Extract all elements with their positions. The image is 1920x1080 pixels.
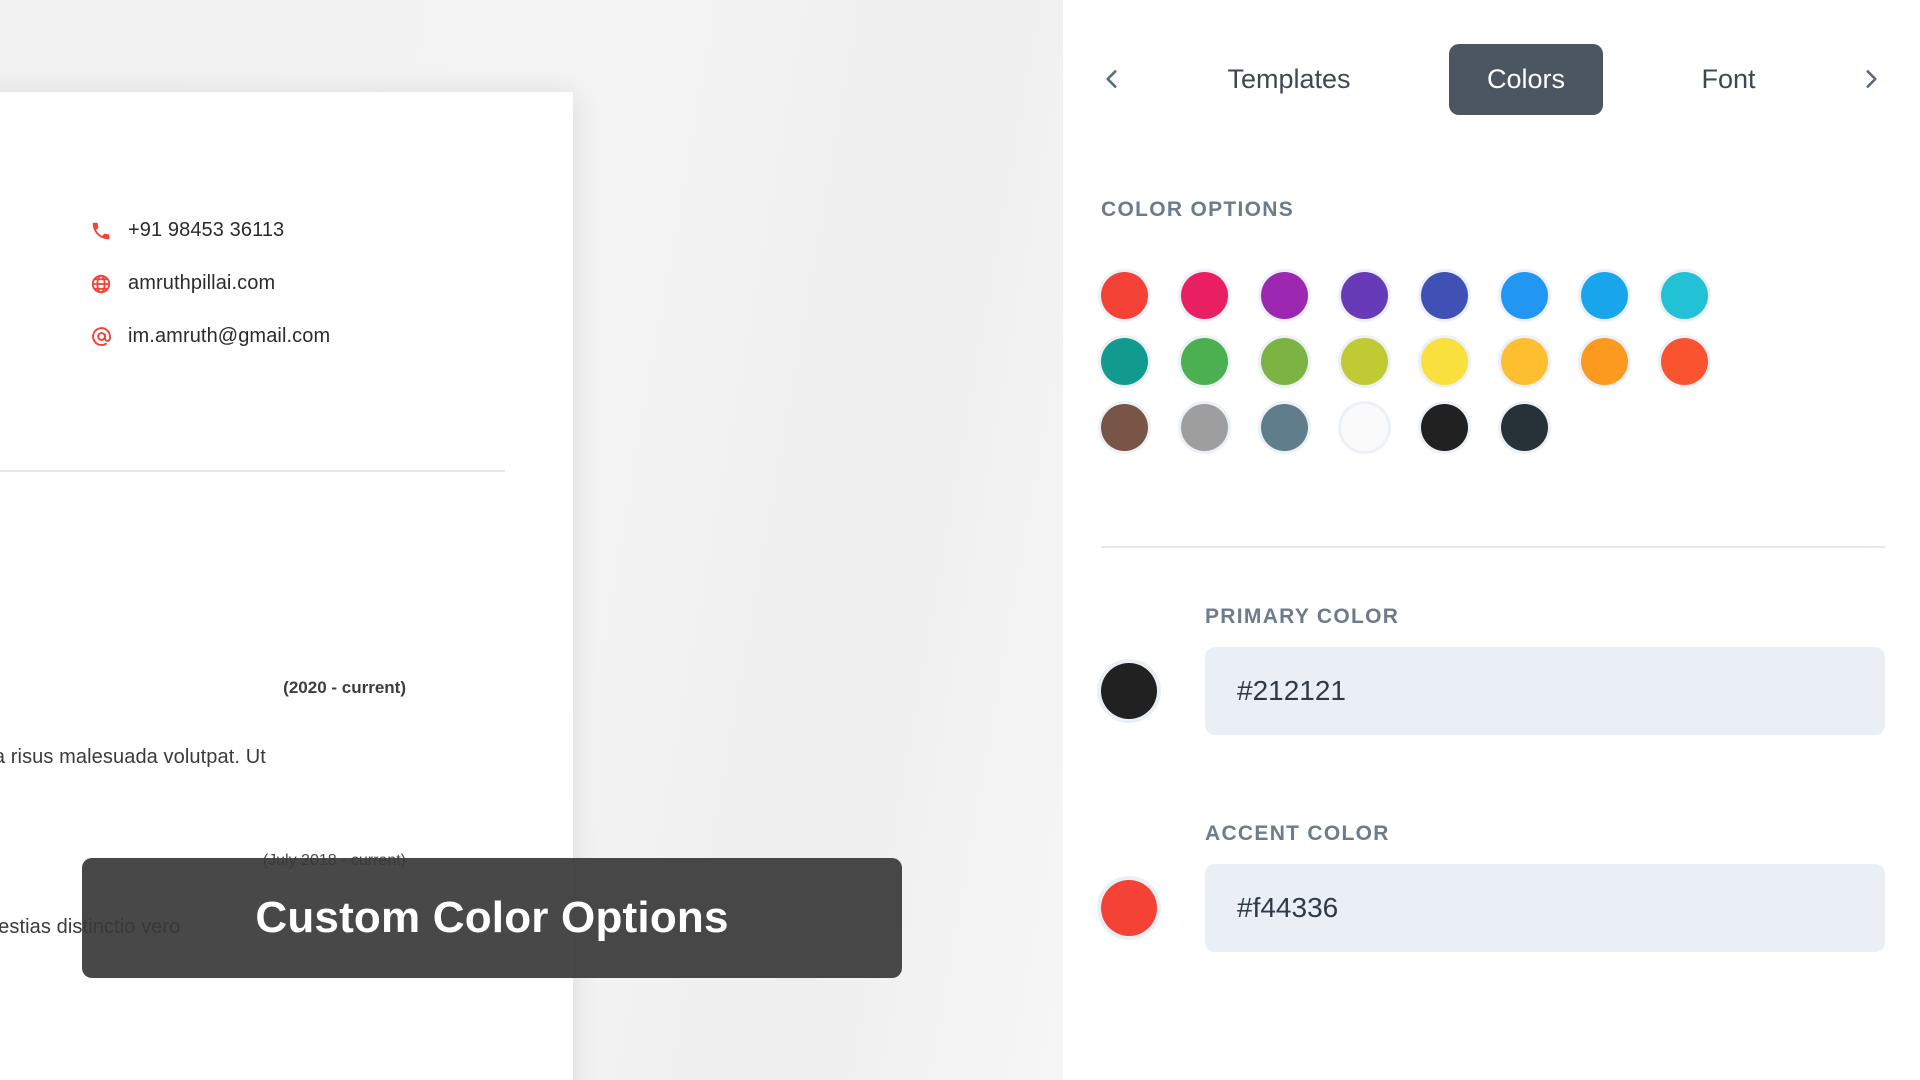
color-swatch[interactable] bbox=[1421, 272, 1468, 319]
color-swatch[interactable] bbox=[1421, 404, 1468, 451]
contact-row-phone: +91 98453 36113 bbox=[90, 204, 530, 257]
resume-divider bbox=[0, 470, 505, 472]
contact-row-email: im.amruth@gmail.com bbox=[90, 310, 530, 363]
primary-color-row bbox=[1101, 645, 1885, 737]
color-swatch[interactable] bbox=[1101, 272, 1148, 319]
color-swatch[interactable] bbox=[1341, 272, 1388, 319]
color-swatch[interactable] bbox=[1501, 338, 1548, 385]
at-icon bbox=[90, 324, 124, 350]
contact-website-text: amruthpillai.com bbox=[124, 272, 275, 295]
contact-row-website: amruthpillai.com bbox=[90, 257, 530, 310]
color-swatch[interactable] bbox=[1581, 272, 1628, 319]
tab-font[interactable]: Font bbox=[1692, 64, 1766, 95]
color-swatch[interactable] bbox=[1261, 404, 1308, 451]
sidebar-divider bbox=[1101, 546, 1885, 548]
color-swatch[interactable] bbox=[1661, 338, 1708, 385]
resume-contact-block: +91 98453 36113 amruthpi bbox=[90, 204, 530, 363]
color-swatch[interactable] bbox=[1581, 338, 1628, 385]
resume-date-range-1: (2020 - current) bbox=[0, 678, 406, 698]
accent-color-label: ACCENT COLOR bbox=[1205, 822, 1390, 846]
color-swatch[interactable] bbox=[1661, 272, 1708, 319]
primary-color-swatch[interactable] bbox=[1101, 663, 1157, 719]
caption-banner: Custom Color Options bbox=[82, 858, 902, 978]
accent-color-input[interactable] bbox=[1205, 864, 1885, 952]
settings-sidebar: Templates Colors Font COLOR OPTIONS PRIM… bbox=[1063, 0, 1920, 1080]
color-swatch[interactable] bbox=[1101, 338, 1148, 385]
color-swatch[interactable] bbox=[1341, 338, 1388, 385]
color-swatch-grid[interactable] bbox=[1101, 262, 1741, 460]
accent-color-swatch[interactable] bbox=[1101, 880, 1157, 936]
primary-color-label: PRIMARY COLOR bbox=[1205, 605, 1399, 629]
color-options-label: COLOR OPTIONS bbox=[1101, 198, 1294, 222]
color-swatch[interactable] bbox=[1501, 272, 1548, 319]
tab-colors[interactable]: Colors bbox=[1449, 44, 1603, 115]
contact-phone-text: +91 98453 36113 bbox=[124, 219, 284, 242]
chevron-right-icon[interactable] bbox=[1854, 57, 1888, 101]
contact-email-text: im.amruth@gmail.com bbox=[124, 325, 330, 348]
resume-summary-text: iatis magni obcaecati libero ullam lorem… bbox=[0, 540, 420, 571]
tab-templates[interactable]: Templates bbox=[1217, 64, 1360, 95]
resume-body-text-1: acinia. Etiam pulvinar consequat tristiq… bbox=[0, 742, 400, 773]
color-swatch[interactable] bbox=[1101, 404, 1148, 451]
color-swatch[interactable] bbox=[1181, 272, 1228, 319]
accent-color-row bbox=[1101, 862, 1885, 954]
color-swatch[interactable] bbox=[1261, 272, 1308, 319]
color-swatch[interactable] bbox=[1181, 338, 1228, 385]
color-swatch[interactable] bbox=[1341, 404, 1388, 451]
phone-icon bbox=[90, 218, 124, 244]
caption-banner-text: Custom Color Options bbox=[255, 893, 728, 943]
app-root: +91 98453 36113 amruthpi bbox=[0, 0, 1920, 1080]
color-swatch[interactable] bbox=[1421, 338, 1468, 385]
color-swatch[interactable] bbox=[1181, 404, 1228, 451]
globe-icon bbox=[90, 271, 124, 297]
color-swatch[interactable] bbox=[1501, 404, 1548, 451]
color-swatch[interactable] bbox=[1261, 338, 1308, 385]
chevron-left-icon[interactable] bbox=[1095, 57, 1129, 101]
primary-color-input[interactable] bbox=[1205, 647, 1885, 735]
settings-tabbar: Templates Colors Font bbox=[1063, 42, 1920, 116]
